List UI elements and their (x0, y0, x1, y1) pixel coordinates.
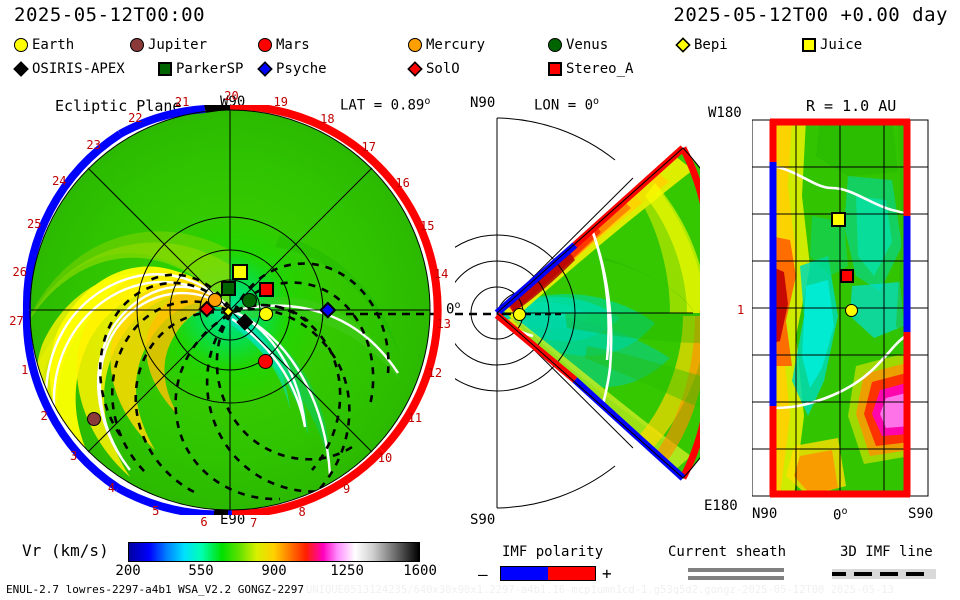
colorbar-tick-900: 900 (261, 563, 286, 579)
imf-dash-4 (906, 572, 924, 576)
rmap-object-markers (0, 0, 960, 540)
imf-negative-swatch (501, 567, 548, 580)
imf-polarity-bar (500, 566, 596, 581)
imf-3d-line-sample (832, 569, 936, 579)
imf-minus-sign: – (478, 565, 488, 584)
current-sheath-line-bottom (688, 576, 784, 580)
imf-dash-2 (854, 572, 872, 576)
colorbar-label: Vr (km/s) (22, 541, 109, 560)
imf-dash-3 (880, 572, 898, 576)
imf-positive-swatch (548, 567, 595, 580)
colorbar-tick-1250: 1250 (330, 563, 364, 579)
run-id-footer: ENUL-2.7 lowres-2297-a4b1 WSA_V2.2 GONGZ… (6, 583, 304, 596)
imf-dash-1 (832, 572, 846, 576)
imf-3d-title: 3D IMF line (840, 544, 933, 560)
rmap-marker-earth (845, 304, 858, 317)
vr-colorbar (128, 542, 420, 562)
watermark-text: UNIQUE0513124235/640x30x90x1.2297-a4b1.1… (306, 584, 894, 596)
rmap-marker-juice (831, 212, 846, 227)
colorbar-tick-550: 550 (188, 563, 213, 579)
rmap-marker-stereo-a (840, 269, 854, 283)
colorbar-tick-200: 200 (115, 563, 140, 579)
current-sheath-line-top (688, 568, 784, 572)
imf-polarity-title: IMF polarity (502, 544, 603, 560)
colorbar-tick-1600: 1600 (403, 563, 437, 579)
current-sheath-title: Current sheath (668, 544, 786, 560)
imf-plus-sign: + (602, 564, 612, 583)
